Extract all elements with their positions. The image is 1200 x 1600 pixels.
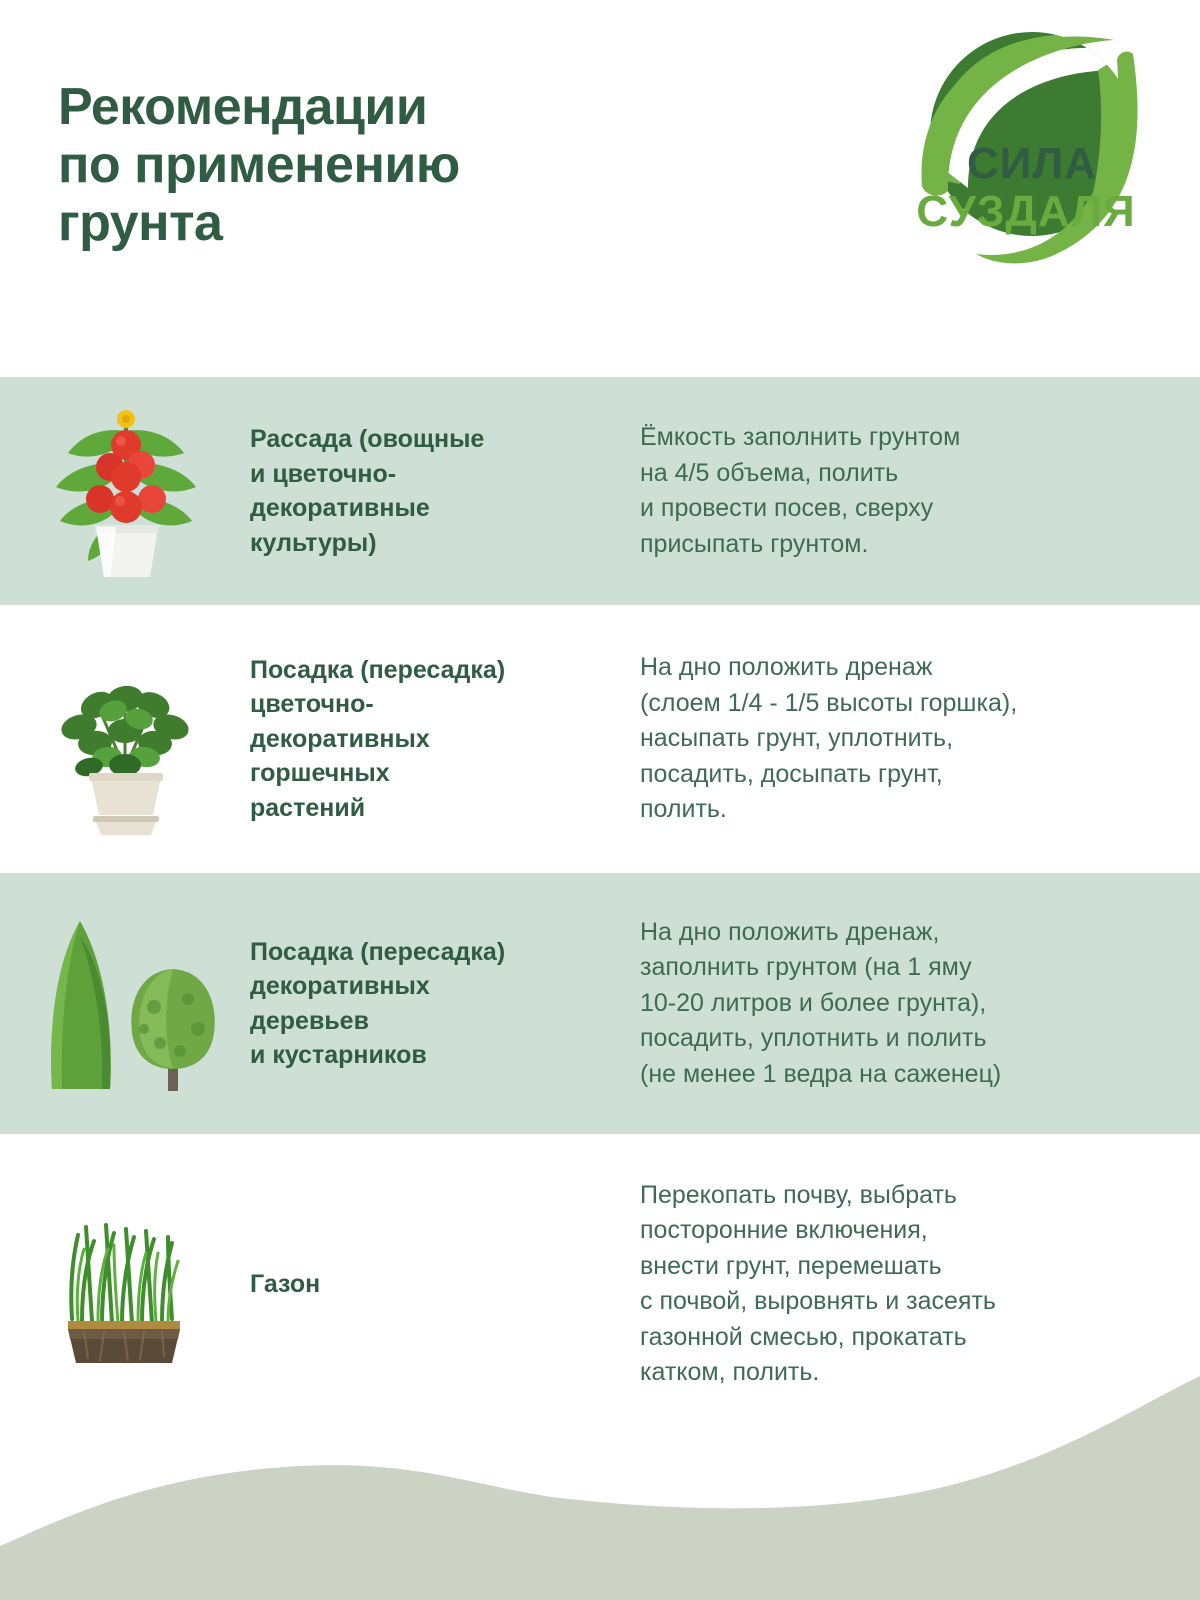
recommendation-rows: Рассада (овощные и цветочно- декоративны…: [0, 377, 1200, 1434]
row-description: На дно положить дренаж (слоем 1/4 - 1/5 …: [640, 650, 1200, 828]
row-description: Перекопать почву, выбрать посторонние вк…: [640, 1178, 1200, 1391]
row-media: [0, 1134, 250, 1434]
brand-logo: СИЛА СУЗДАЛЯ: [902, 18, 1162, 280]
row-title: Посадка (пересадка) цветочно- декоративн…: [250, 653, 640, 826]
potted-houseplant-image: [43, 639, 208, 839]
table-row: Рассада (овощные и цветочно- декоративны…: [0, 377, 1200, 605]
row-media: [0, 873, 250, 1134]
row-title: Посадка (пересадка) декоративных деревье…: [250, 935, 640, 1073]
tomato-seedling-in-pot-image: [40, 401, 210, 581]
infographic-page: Рекомендации по применению грунта: [0, 0, 1200, 1600]
lawn-turf-image: [38, 1197, 213, 1372]
trees-and-shrubs-image: [28, 911, 223, 1096]
row-title: Газон: [250, 1267, 640, 1302]
deciduous-tree-icon: [131, 969, 214, 1091]
logo-wordmark-line2: СУЗДАЛЯ: [916, 187, 1135, 236]
row-media: [0, 377, 250, 605]
row-description: На дно положить дренаж, заполнить грунто…: [640, 915, 1200, 1093]
table-row: Посадка (пересадка) цветочно- декоративн…: [0, 605, 1200, 873]
flower-icon: [117, 410, 135, 428]
row-description: Ёмкость заполнить грунтом на 4/5 объема,…: [640, 420, 1200, 562]
page-title: Рекомендации по применению грунта: [58, 78, 718, 253]
table-row: Газон Перекопать почву, выбрать посторон…: [0, 1134, 1200, 1434]
logo-wordmark-line1: СИЛА: [967, 139, 1097, 188]
row-media: [0, 605, 250, 873]
row-title: Рассада (овощные и цветочно- декоративны…: [250, 422, 640, 560]
table-row: Посадка (пересадка) декоративных деревье…: [0, 873, 1200, 1134]
conifer-tree-icon: [51, 921, 111, 1089]
header: Рекомендации по применению грунта: [0, 0, 1200, 377]
